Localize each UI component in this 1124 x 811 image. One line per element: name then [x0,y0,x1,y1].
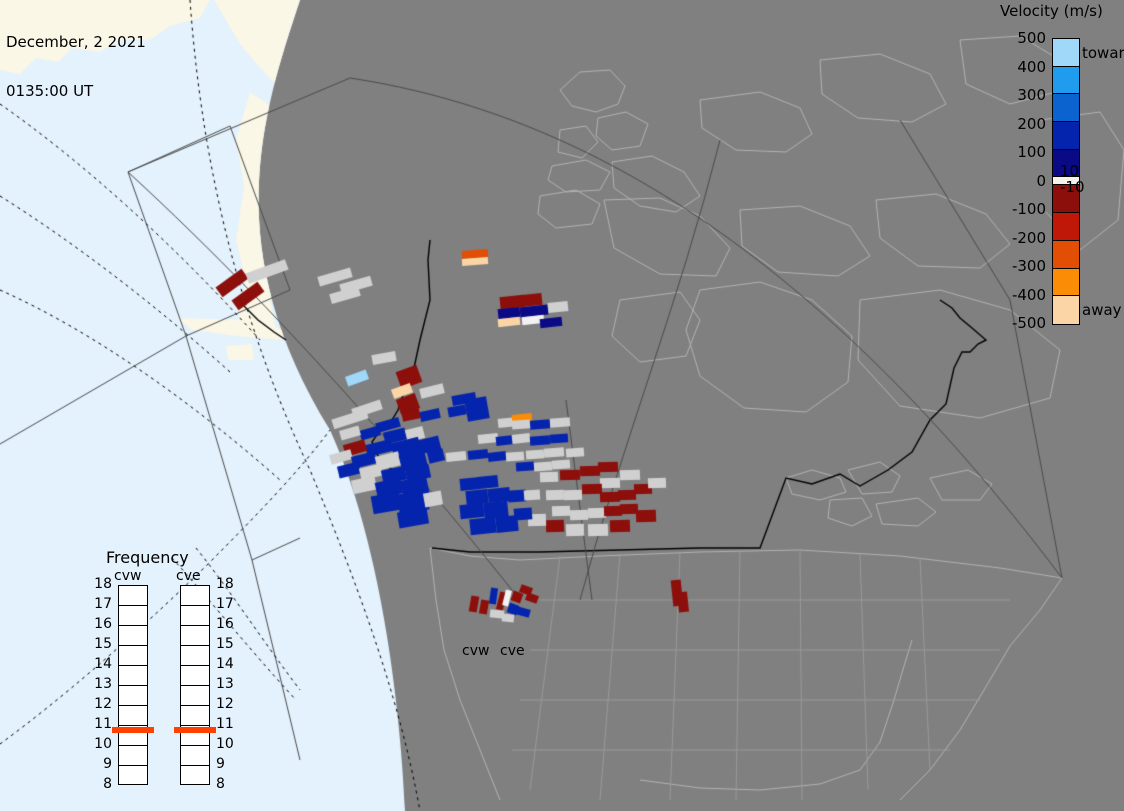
frequency-bar-row [119,606,147,626]
radar-site-label-cvw: cvw [462,643,489,659]
frequency-bar-row [119,706,147,726]
time-label: 0135:00 UT [6,83,146,100]
fan-plot-window: December, 2 2021 0135:00 UT Velocity (m/… [0,0,1124,811]
frequency-tick-cve-17: 17 [216,596,238,612]
frequency-tick-cvw-12: 12 [90,696,112,712]
date-label: December, 2 2021 [6,34,146,51]
frequency-tick-cvw-15: 15 [90,636,112,652]
frequency-tick-cvw-14: 14 [90,656,112,672]
colorbar-away-label: away [1082,301,1122,319]
frequency-bar-row [181,626,209,646]
colorbar-tick--100: -100 [1000,200,1046,218]
colorbar-band-350 [1053,67,1079,95]
frequency-tick-cve-8: 8 [216,776,238,792]
frequency-bar-row [181,766,209,786]
colorbar-band--350 [1053,269,1079,297]
frequency-column-header-cvw: cvw [114,568,141,584]
frequency-bar-cvw [118,585,148,785]
colorbar-band--250 [1053,241,1079,269]
colorbar-band-150 [1053,122,1079,150]
colorbar-tick-200: 200 [1000,115,1046,133]
frequency-tick-cve-9: 9 [216,756,238,772]
colorbar-tick-100: 100 [1000,143,1046,161]
frequency-tick-cve-12: 12 [216,696,238,712]
frequency-tick-cve-14: 14 [216,656,238,672]
frequency-bar-row [119,686,147,706]
frequency-tick-cvw-18: 18 [90,576,112,592]
frequency-marker-cvw [112,727,154,733]
colorbar-tick--500: -500 [1000,314,1046,332]
frequency-bar-row [181,686,209,706]
frequency-bar-row [119,586,147,606]
frequency-tick-cvw-10: 10 [90,736,112,752]
frequency-tick-cvw-13: 13 [90,676,112,692]
frequency-tick-cvw-8: 8 [90,776,112,792]
frequency-bar-row [181,646,209,666]
frequency-tick-cvw-17: 17 [90,596,112,612]
frequency-tick-cvw-16: 16 [90,616,112,632]
frequency-tick-cve-15: 15 [216,636,238,652]
colorbar-band--450 [1053,296,1079,324]
frequency-tick-cve-16: 16 [216,616,238,632]
colorbar-tick--400: -400 [1000,286,1046,304]
frequency-legend-title: Frequency [106,548,189,567]
frequency-bar-row [119,746,147,766]
colorbar-tick--200: -200 [1000,229,1046,247]
colorbar-title: Velocity (m/s) [1000,2,1103,20]
timestamp-block: December, 2 2021 0135:00 UT [6,2,146,132]
frequency-tick-cve-18: 18 [216,576,238,592]
frequency-bar-row [181,746,209,766]
colorbar-band-250 [1053,94,1079,122]
frequency-bar-row [119,626,147,646]
colorbar-tick-300: 300 [1000,86,1046,104]
colorbar-tick-500: 500 [1000,29,1046,47]
frequency-bar-row [119,766,147,786]
colorbar-band--150 [1053,213,1079,241]
frequency-column-header-cve: cve [176,568,201,584]
frequency-tick-cvw-11: 11 [90,716,112,732]
colorbar-band-450 [1053,39,1079,67]
frequency-legend: Frequency cvw18171615141312111098cve1817… [88,548,238,796]
frequency-tick-cvw-9: 9 [90,756,112,772]
colorbar-tick-0: 0 [1000,172,1046,190]
colorbar-tick--300: -300 [1000,257,1046,275]
frequency-bar-row [181,706,209,726]
colorbar-tick-400: 400 [1000,58,1046,76]
frequency-bar-row [181,586,209,606]
frequency-bar-row [119,646,147,666]
frequency-bar-cve [180,585,210,785]
frequency-tick-cve-13: 13 [216,676,238,692]
colorbar-inner-negative-label: -10 [1060,178,1085,196]
frequency-bar-row [119,666,147,686]
frequency-bar-row [181,666,209,686]
frequency-bar-row [181,606,209,626]
radar-site-label-cve: cve [500,643,525,659]
frequency-tick-cve-10: 10 [216,736,238,752]
colorbar-toward-label: toward [1082,44,1124,62]
frequency-tick-cve-11: 11 [216,716,238,732]
frequency-marker-cve [174,727,216,733]
